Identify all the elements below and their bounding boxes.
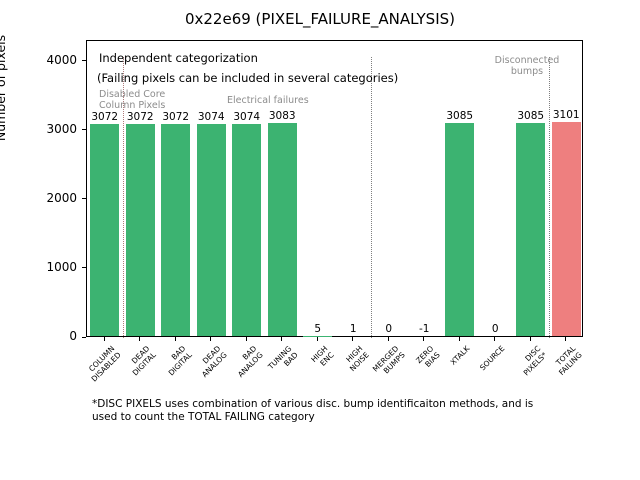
disconnected-bumps: Disconnected bumps xyxy=(467,55,587,77)
bar[interactable] xyxy=(232,124,261,336)
x-axis-tick-mark xyxy=(210,337,211,341)
plot-area: 307230723072307430743083510-130850308531… xyxy=(86,40,583,337)
x-axis-tick-mark xyxy=(175,337,176,341)
y-axis-tick-label: 4000 xyxy=(46,53,77,67)
independent-categorization-sub: (Failing pixels can be included in sever… xyxy=(97,69,527,88)
bar-value-label: 3085 xyxy=(436,110,484,122)
bar[interactable] xyxy=(90,124,119,336)
x-axis-tick-mark xyxy=(459,337,460,341)
x-axis-tick-mark xyxy=(494,337,495,341)
x-axis-tick-mark xyxy=(104,337,105,341)
y-axis-label: Number of pixels xyxy=(0,0,8,188)
disabled-core-column-pixels: Disabled Core Column Pixels xyxy=(99,89,219,111)
divider-after-disc-pixels xyxy=(549,57,550,338)
bar[interactable] xyxy=(197,124,226,336)
x-axis-tick-mark xyxy=(388,337,389,341)
x-axis-tick-mark xyxy=(246,337,247,341)
y-axis-tick-label: 0 xyxy=(69,329,77,343)
bar[interactable] xyxy=(268,123,297,336)
bar[interactable] xyxy=(516,123,545,336)
bar-value-label: 0 xyxy=(472,323,520,335)
bar[interactable] xyxy=(552,122,581,336)
x-axis-tick-mark xyxy=(530,337,531,341)
y-axis-tick-label: 3000 xyxy=(46,122,77,136)
y-axis-tick-label: 1000 xyxy=(46,260,77,274)
plot-inner: 307230723072307430743083510-130850308531… xyxy=(87,41,582,336)
x-axis-tick-mark xyxy=(423,337,424,341)
electrical-failures: Electrical failures xyxy=(227,95,387,106)
bar-value-label: -1 xyxy=(401,323,449,335)
bar[interactable] xyxy=(161,124,190,336)
x-axis-tick-mark xyxy=(139,337,140,341)
chart-title: 0x22e69 (PIXEL_FAILURE_ANALYSIS) xyxy=(0,10,640,28)
independent-categorization: Independent categorization xyxy=(99,49,499,68)
x-axis-tick-mark xyxy=(565,337,566,341)
x-axis-tick-mark xyxy=(281,337,282,341)
figure-canvas: 0x22e69 (PIXEL_FAILURE_ANALYSIS) Number … xyxy=(0,0,640,480)
x-axis-tick-mark xyxy=(352,337,353,341)
chart-footnote: *DISC PIXELS uses combination of various… xyxy=(92,398,612,424)
bar-value-label: 3101 xyxy=(543,109,591,121)
x-axis-tick-mark xyxy=(317,337,318,341)
bar[interactable] xyxy=(445,123,474,336)
bar[interactable] xyxy=(126,124,155,336)
y-axis-tick-label: 2000 xyxy=(46,191,77,205)
bar-value-label: 3083 xyxy=(259,110,307,122)
